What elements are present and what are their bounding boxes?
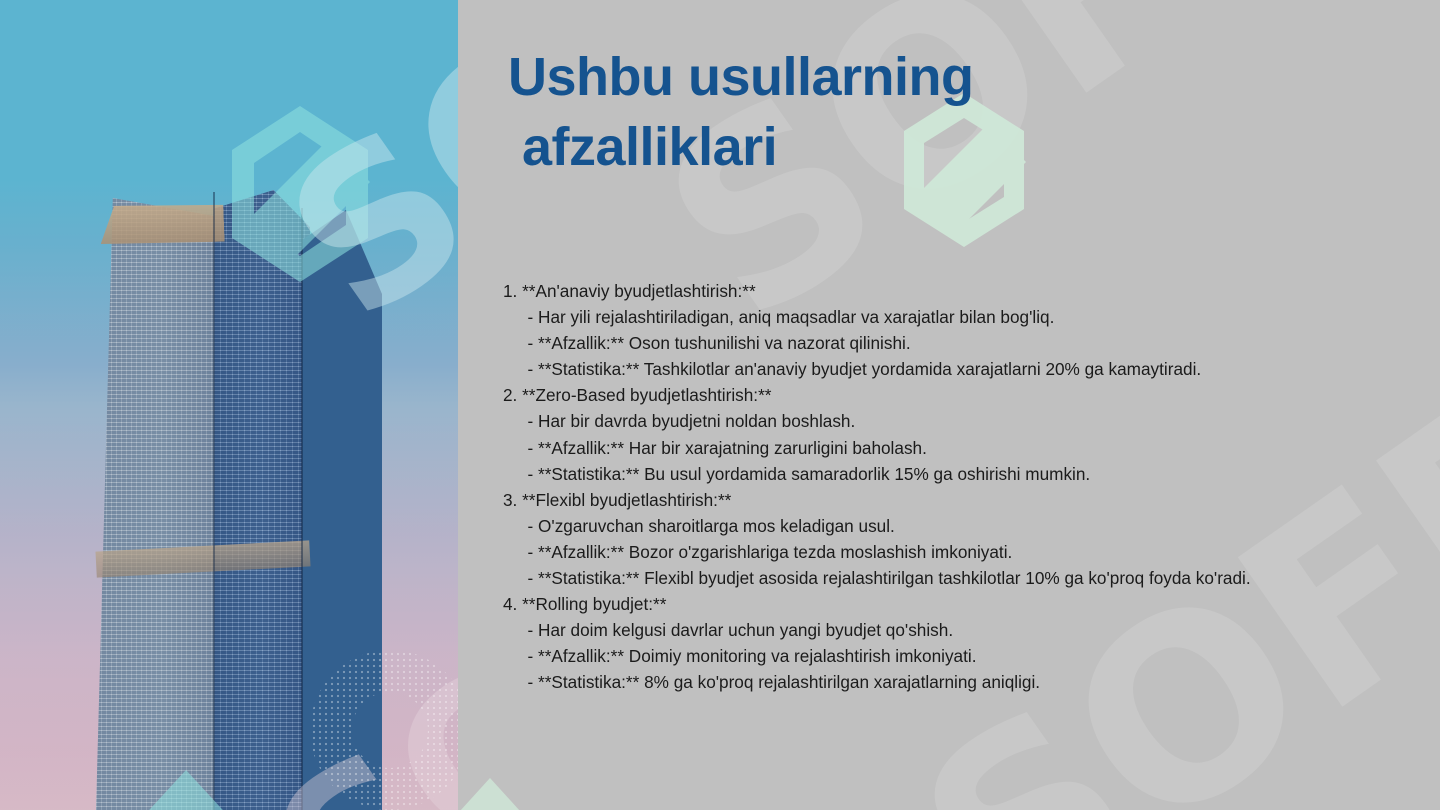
- list-sub-item: - **Statistika:** Flexibl byudjet asosid…: [503, 565, 1423, 591]
- tower-crown-band: [99, 202, 224, 247]
- content-panel: SOFF SOFF Ushbu usullarning afzalliklari…: [458, 0, 1440, 810]
- mint-chevron-decoration: [458, 752, 560, 810]
- list-sub-item: - **Statistika:** 8% ga ko'proq rejalash…: [503, 669, 1423, 695]
- tower-mullion: [301, 208, 303, 810]
- list-sub-item: - **Statistika:** Tashkilotlar an'anaviy…: [503, 356, 1423, 382]
- tower-face-left: [96, 198, 216, 810]
- list-item: 4. **Rolling byudjet:**: [503, 591, 1423, 617]
- slide-title-line-2: afzalliklari: [508, 112, 1148, 182]
- list-sub-item: - **Afzallik:** Bozor o'zgarishlariga te…: [503, 539, 1423, 565]
- list-sub-item: - Har yili rejalashtiriladigan, aniq maq…: [503, 304, 1423, 330]
- list-sub-item: - **Statistika:** Bu usul yordamida sama…: [503, 461, 1423, 487]
- tower-face-center: [214, 190, 310, 810]
- list-item: 2. **Zero-Based byudjetlashtirish:**: [503, 382, 1423, 408]
- list-item: 1. **An'anaviy byudjetlashtirish:**: [503, 278, 1423, 304]
- list-sub-item: - **Afzallik:** Har bir xarajatning zaru…: [503, 435, 1423, 461]
- list-sub-item: - O'zgaruvchan sharoitlarga mos keladiga…: [503, 513, 1423, 539]
- presentation-slide: SOFF SOFF SOFF SOFF: [0, 0, 1440, 810]
- list-sub-item: - **Afzallik:** Oson tushunilishi va naz…: [503, 330, 1423, 356]
- list-sub-item: - Har doim kelgusi davrlar uchun yangi b…: [503, 617, 1423, 643]
- list-sub-item: - **Afzallik:** Doimiy monitoring va rej…: [503, 643, 1423, 669]
- slide-title-line-1: Ushbu usullarning: [508, 47, 974, 107]
- skyscraper-photo: [96, 190, 382, 810]
- tower-mullion: [213, 192, 215, 810]
- slide-body-list: 1. **An'anaviy byudjetlashtirish:** - Ha…: [503, 278, 1423, 696]
- left-image-panel: SOFF SOFF: [0, 0, 458, 810]
- list-item: 3. **Flexibl byudjetlashtirish:**: [503, 487, 1423, 513]
- tower-face-right: [302, 210, 382, 810]
- list-sub-item: - Har bir davrda byudjetni noldan boshla…: [503, 408, 1423, 434]
- slide-title: Ushbu usullarning afzalliklari: [508, 42, 1148, 182]
